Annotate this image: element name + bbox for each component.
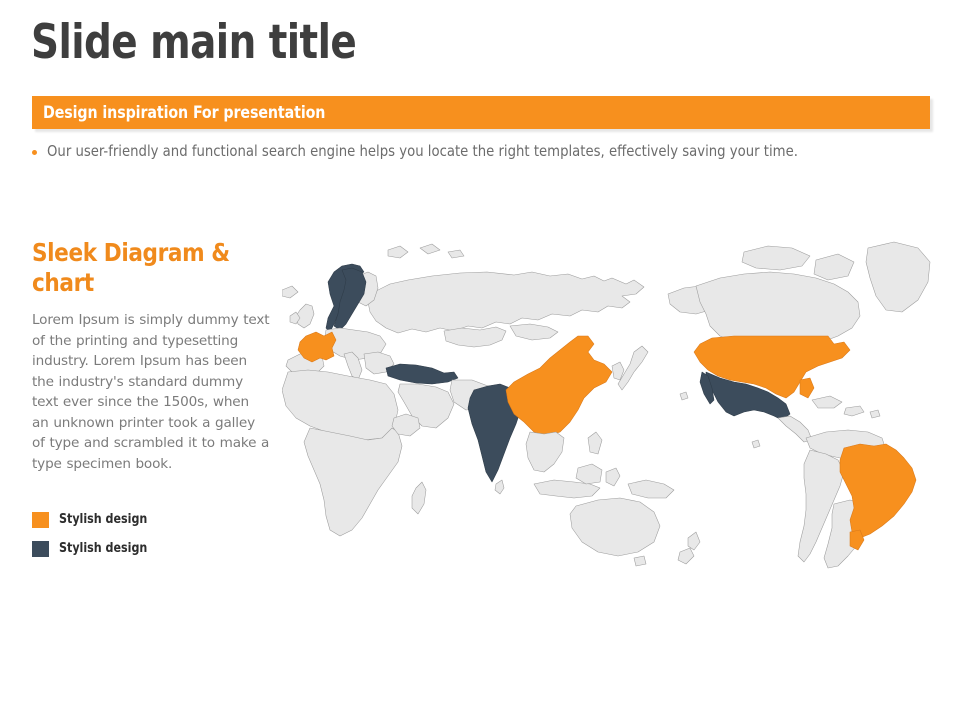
map-country-mongolia[interactable] (510, 324, 558, 340)
map-island-tasmania[interactable] (634, 556, 646, 566)
map-region-americas (668, 242, 930, 568)
map-country-brazil[interactable] (840, 444, 916, 538)
map-island-arctic-1[interactable] (420, 244, 440, 254)
map-island-new-guinea[interactable] (628, 480, 674, 498)
map-country-kazakhstan[interactable] (444, 327, 506, 347)
map-island-pacific-2[interactable] (752, 440, 760, 448)
map-island-arctic-2[interactable] (448, 250, 464, 258)
map-island-sulawesi[interactable] (606, 468, 620, 486)
legend-item-label: Stylish design (59, 541, 147, 556)
map-region-sub-saharan-africa[interactable] (304, 428, 402, 536)
legend-swatch-orange-icon (32, 512, 49, 528)
subtitle-banner-label: Design inspiration For presentation (43, 103, 325, 123)
map-country-turkey[interactable] (386, 364, 458, 384)
map-country-sri-lanka[interactable] (495, 480, 504, 494)
map-island-iceland[interactable] (282, 286, 298, 298)
map-region-north-africa[interactable] (282, 370, 398, 440)
map-country-madagascar[interactable] (412, 482, 426, 514)
map-island-svalbard[interactable] (388, 246, 408, 258)
map-country-russia[interactable] (368, 272, 644, 333)
left-text-panel: Sleek Diagram & chart Lorem Ipsum is sim… (32, 238, 264, 474)
map-region-canadian-arctic[interactable] (742, 246, 810, 270)
map-country-greenland[interactable] (866, 242, 930, 312)
map-legend: Stylish design Stylish design (32, 511, 152, 569)
intro-bullet-row: Our user-friendly and functional search … (32, 141, 837, 161)
map-country-new-zealand[interactable] (688, 532, 700, 550)
map-island-cuba[interactable] (812, 396, 842, 408)
map-island-hispaniola[interactable] (844, 406, 864, 416)
map-island-baffin[interactable] (814, 254, 854, 280)
map-island-borneo[interactable] (576, 464, 602, 484)
slide-canvas: Slide main title Design inspiration For … (0, 0, 960, 720)
section-heading: Sleek Diagram & chart (32, 238, 255, 298)
map-country-australia[interactable] (570, 498, 660, 556)
map-country-china[interactable] (506, 336, 612, 436)
map-region-florida[interactable] (800, 378, 814, 398)
legend-item[interactable]: Stylish design (32, 511, 152, 528)
legend-swatch-navy-icon (32, 541, 49, 557)
legend-item[interactable]: Stylish design (32, 540, 152, 557)
map-island-philippines[interactable] (588, 432, 602, 454)
world-map[interactable] (282, 232, 932, 570)
map-island-pacific-1[interactable] (680, 392, 688, 400)
page-title: Slide main title (31, 18, 356, 68)
world-map-svg (282, 232, 932, 570)
map-island-nz-south[interactable] (678, 548, 694, 564)
legend-item-label: Stylish design (59, 512, 147, 527)
map-island-caribbean-small[interactable] (870, 410, 880, 418)
bullet-dot-icon (32, 150, 37, 155)
section-body-text: Lorem Ipsum is simply dummy text of the … (32, 310, 270, 474)
subtitle-banner: Design inspiration For presentation (32, 96, 930, 129)
intro-bullet-text: Our user-friendly and functional search … (47, 141, 798, 161)
map-region-eurasia-africa (282, 244, 700, 566)
map-region-southeast-asia[interactable] (526, 432, 564, 472)
map-country-france[interactable] (298, 332, 336, 362)
